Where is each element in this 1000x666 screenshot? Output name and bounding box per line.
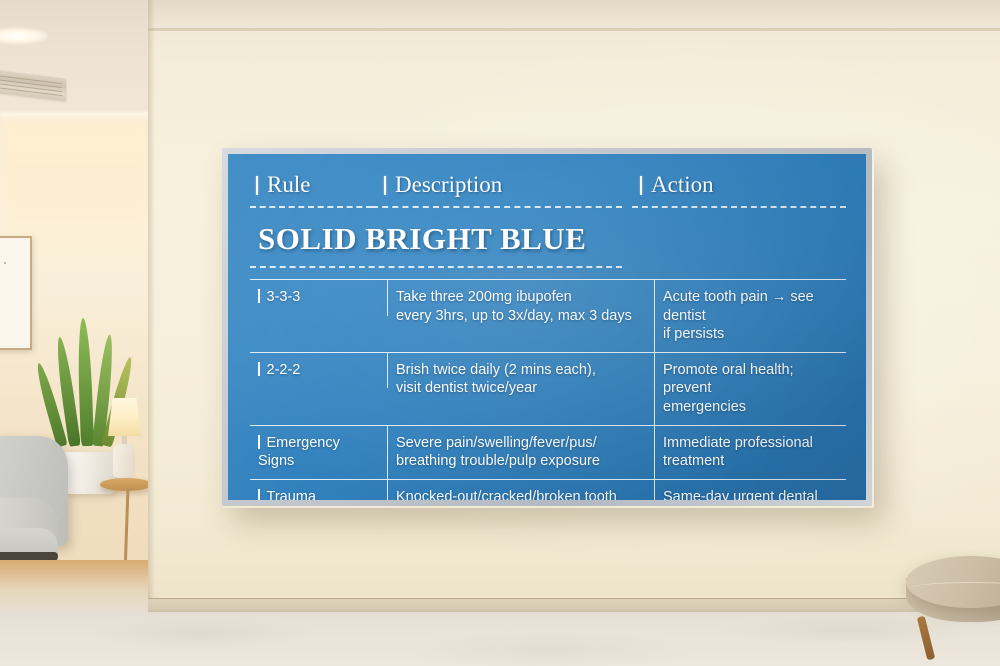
table-header-row: Rule Description Action [250, 168, 846, 206]
title-underline [250, 266, 622, 268]
foreground-ceiling [148, 0, 1000, 30]
cell-description: Severe pain/swelling/fever/pus/ breathin… [388, 426, 654, 480]
row-bar-icon [258, 362, 260, 376]
cell-description: Brish twice daily (2 mins each), visit d… [388, 353, 654, 407]
table-row: Emergency Signs Severe pain/swelling/fev… [250, 426, 846, 480]
cell-action: Same-day urgent dental care [654, 480, 846, 500]
cell-rule: 2-2-2 [250, 353, 388, 388]
header-cell-description: Description [378, 172, 634, 197]
table-row: Trauma Knocked-out/cracked/broken tooth … [250, 480, 846, 500]
cell-description: Take three 200mg ibupofen every 3hrs, up… [388, 280, 654, 334]
header-bar-icon [256, 176, 258, 195]
botanical-sketch [0, 276, 22, 306]
header-cell-rule: Rule [250, 172, 378, 197]
lamp-base [113, 444, 135, 478]
cell-rule: 3-3-3 [250, 280, 388, 315]
board-title: SOLID BRIGHT BLUE [250, 208, 622, 266]
ceiling-edge [148, 28, 1000, 31]
cell-rule: Emergency Signs [250, 426, 388, 480]
alcove-floor [0, 560, 152, 616]
cell-action: Acute tooth pain → see dentist if persis… [654, 280, 846, 352]
row-bar-icon [258, 489, 260, 500]
cell-action: Immediate professional treatment [654, 426, 846, 480]
row-bar-icon [258, 289, 260, 303]
cell-rule: Trauma [250, 480, 388, 500]
floor [0, 612, 1000, 666]
artwork-frame [0, 236, 32, 350]
table-row: 2-2-2 Brish twice daily (2 mins each), v… [250, 353, 846, 425]
rules-table: Rule Description Action SOLID BRIGHT BLU… [250, 168, 846, 500]
waiting-room-scene: Rule Description Action SOLID BRIGHT BLU… [0, 0, 1000, 666]
information-board: Rule Description Action SOLID BRIGHT BLU… [228, 154, 866, 500]
board-title-row: SOLID BRIGHT BLUE [250, 208, 846, 268]
row-bar-icon [258, 435, 260, 449]
table-row: 3-3-3 Take three 200mg ibupofen every 3h… [250, 280, 846, 352]
cell-action: Promote oral health; prevent emergencies [654, 353, 846, 425]
wall-corner-shadow [148, 0, 155, 612]
cell-description: Knocked-out/cracked/broken tooth [388, 480, 654, 500]
lamp-shade [108, 398, 141, 436]
header-bar-icon [384, 176, 386, 195]
header-bar-icon [640, 176, 642, 195]
header-cell-action: Action [634, 172, 846, 197]
back-ceiling [0, 0, 152, 120]
